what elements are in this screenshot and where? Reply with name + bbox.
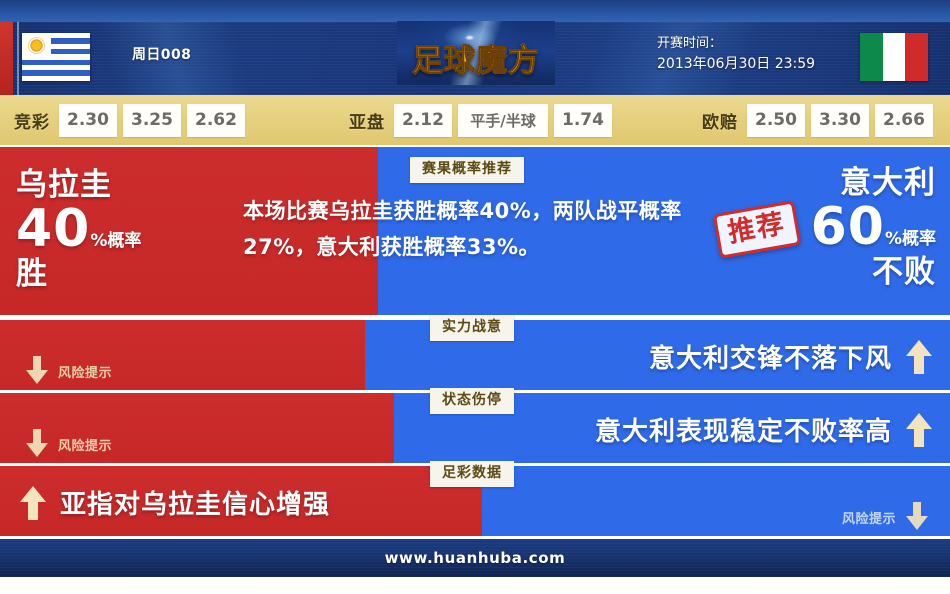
row1-headline-text: 意大利交锋不落下风 [649, 338, 892, 375]
tab-strength-intent[interactable]: 实力战意 [430, 315, 514, 341]
row1-headline: 意大利交锋不落下风 [649, 338, 932, 375]
odds-cell-oupei-home[interactable]: 2.50 [747, 104, 805, 137]
row3-risk-label: 风险提示 [842, 508, 896, 527]
kickoff-label: 开赛时间： [657, 34, 815, 54]
home-probability-value: 40 [16, 199, 90, 259]
odds-label-jingcai: 竞彩 [14, 108, 50, 133]
odds-cell-jingcai-home[interactable]: 2.30 [59, 104, 117, 137]
site-logo[interactable]: 足球魔方 [397, 21, 555, 85]
arrow-up-icon [906, 413, 932, 447]
italy-flag [860, 33, 928, 81]
row3-headline: 亚指对乌拉圭信心增强 [20, 484, 330, 521]
row3-risk-note: 风险提示 [842, 502, 928, 532]
row2-headline-text: 意大利表现稳定不败率高 [595, 411, 892, 448]
away-team-name: 意大利 [811, 165, 936, 201]
home-probability-suffix: %概率 [90, 231, 141, 251]
arrow-down-icon [906, 502, 928, 532]
odds-cell-yapan-handicap[interactable]: 平手/半球 [458, 104, 548, 137]
sun-icon [29, 38, 44, 53]
header-red-stripe [0, 22, 13, 95]
row1-risk-note: 风险提示 [26, 356, 112, 386]
row2-headline: 意大利表现稳定不败率高 [595, 411, 932, 448]
tab-lottery-data[interactable]: 足彩数据 [430, 461, 514, 487]
site-logo-text: 足球魔方 [397, 35, 555, 80]
row-strength-intent: 实力战意 风险提示 意大利交锋不落下风 [0, 320, 950, 390]
prediction-card: 周日008 足球魔方 开赛时间： 2013年06月30日 23:59 竞彩 2.… [0, 0, 950, 594]
probability-panel: 赛果概率推荐 乌拉圭 40%概率 胜 本场比赛乌拉圭获胜概率40%，两队战平概率… [0, 147, 950, 315]
away-outcome: 不败 [811, 253, 936, 291]
away-probability-suffix: %概率 [885, 229, 936, 249]
probability-summary: 本场比赛乌拉圭获胜概率40%，两队战平概率27%，意大利获胜概率33%。 [243, 193, 695, 265]
home-team-name: 乌拉圭 [16, 167, 141, 203]
away-probability-value: 60 [811, 197, 885, 257]
row-lottery-data: 足彩数据 亚指对乌拉圭信心增强 风险提示 [0, 466, 950, 536]
tab-form-injury[interactable]: 状态伤停 [430, 388, 514, 414]
arrow-up-icon [20, 486, 46, 520]
odds-group-yapan: 亚盘 2.12 平手/半球 1.74 [349, 104, 618, 137]
row3-headline-text: 亚指对乌拉圭信心增强 [60, 484, 330, 521]
row-form-injury: 状态伤停 风险提示 意大利表现稳定不败率高 [0, 393, 950, 463]
header-divider [17, 22, 19, 95]
kickoff-time: 开赛时间： 2013年06月30日 23:59 [657, 34, 815, 74]
recommend-stamp: 推荐 [713, 200, 802, 259]
arrow-down-icon [26, 429, 48, 459]
match-number: 周日008 [132, 44, 191, 64]
arrow-up-icon [906, 340, 932, 374]
home-outcome: 胜 [16, 255, 141, 293]
odds-cell-yapan-home[interactable]: 2.12 [394, 104, 452, 137]
odds-group-jingcai: 竞彩 2.30 3.25 2.62 [14, 104, 251, 137]
odds-cell-oupei-away[interactable]: 2.66 [875, 104, 933, 137]
kickoff-value: 2013年06月30日 23:59 [657, 54, 815, 74]
odds-label-yapan: 亚盘 [349, 108, 385, 133]
odds-label-oupei: 欧赔 [702, 108, 738, 133]
uruguay-flag [22, 33, 90, 81]
footer: www.huanhuba.com [0, 539, 950, 577]
arrow-down-icon [26, 356, 48, 386]
odds-cell-yapan-away[interactable]: 1.74 [554, 104, 612, 137]
away-probability-block: 意大利 60%概率 不败 [811, 165, 936, 291]
row2-risk-label: 风险提示 [58, 435, 112, 454]
odds-bar: 竞彩 2.30 3.25 2.62 亚盘 2.12 平手/半球 1.74 欧赔 … [0, 95, 950, 145]
site-url[interactable]: www.huanhuba.com [385, 549, 566, 567]
odds-cell-jingcai-draw[interactable]: 3.25 [123, 104, 181, 137]
header: 周日008 足球魔方 开赛时间： 2013年06月30日 23:59 [0, 0, 950, 95]
odds-cell-jingcai-away[interactable]: 2.62 [187, 104, 245, 137]
row2-risk-note: 风险提示 [26, 429, 112, 459]
tab-result-probability[interactable]: 赛果概率推荐 [410, 157, 524, 183]
home-probability-block: 乌拉圭 40%概率 胜 [16, 167, 141, 293]
footer-padding [0, 577, 950, 594]
row1-risk-label: 风险提示 [58, 362, 112, 381]
odds-group-oupei: 欧赔 2.50 3.30 2.66 [702, 104, 939, 137]
odds-cell-oupei-draw[interactable]: 3.30 [811, 104, 869, 137]
